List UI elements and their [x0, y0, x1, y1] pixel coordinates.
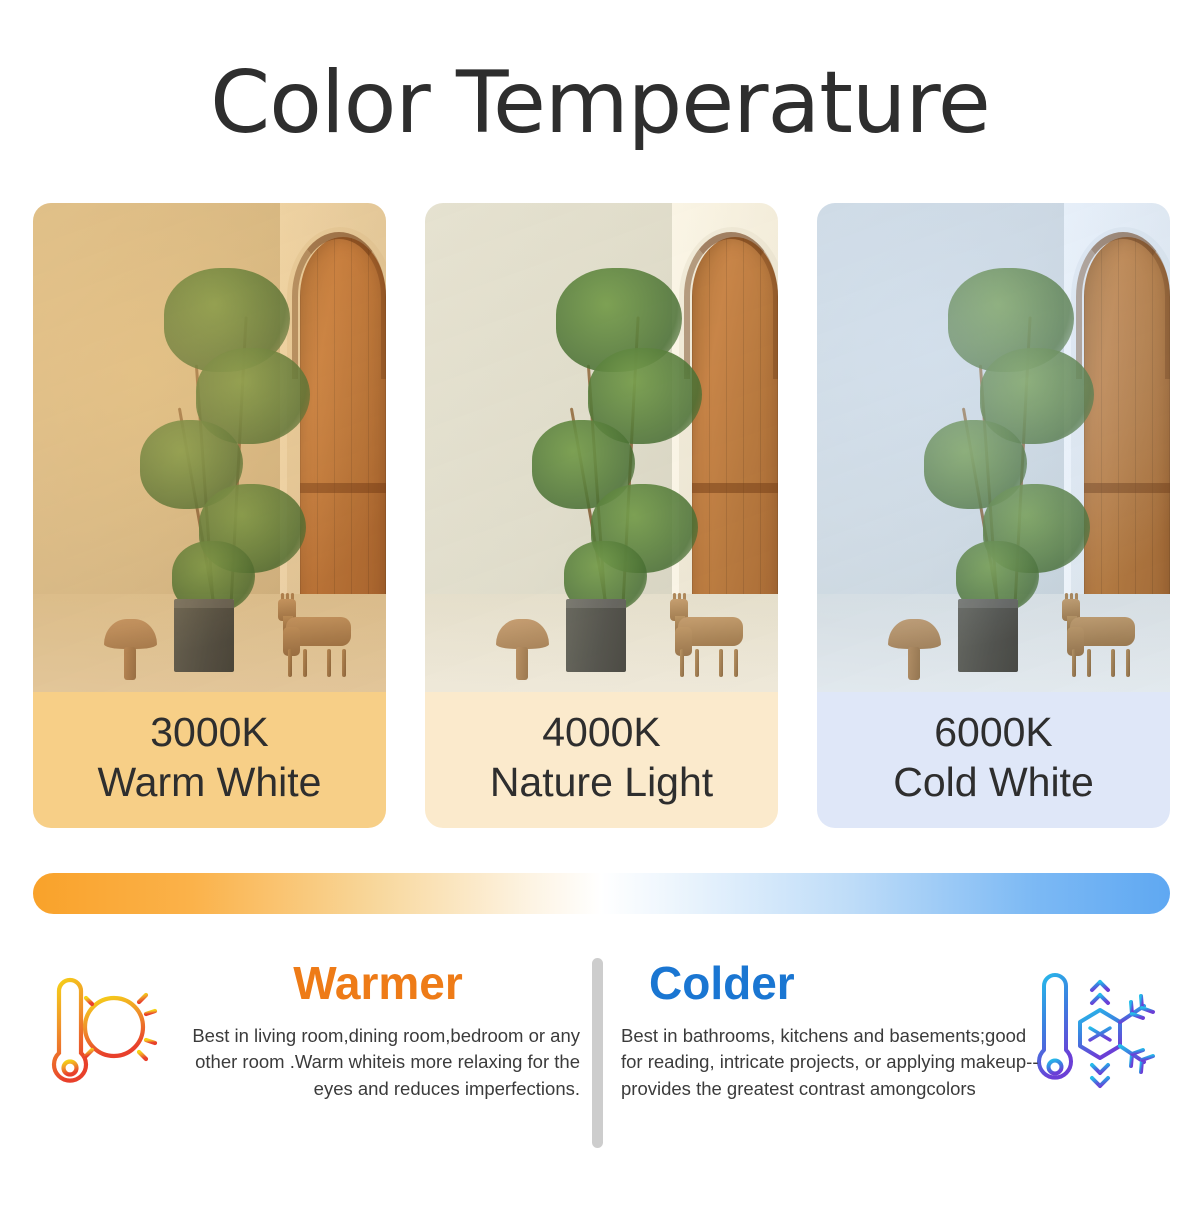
color-temperature-card-3000k[interactable]: 3000K Warm White: [33, 203, 386, 828]
potted-tree: [520, 252, 718, 653]
animal-leg: [303, 649, 307, 677]
card-label-4000k: 4000K Nature Light: [425, 692, 778, 828]
animal-leg: [1111, 649, 1115, 677]
room-scene: [817, 203, 1170, 692]
mushroom-stem: [908, 647, 921, 680]
animal-leg: [327, 649, 331, 677]
mushroom-cap: [888, 619, 941, 650]
potted-tree: [912, 252, 1110, 653]
mushroom-stem: [516, 647, 529, 680]
thermometer-snowflake-icon: [1032, 962, 1164, 1102]
warmer-column: Warmer Best in living room,dining room,b…: [176, 958, 580, 1102]
cold-white-room-photo: [817, 203, 1170, 692]
animal-leg: [719, 649, 723, 677]
wooden-animal-bench: [266, 594, 351, 677]
wooden-animal-bench: [658, 594, 743, 677]
mushroom-stool: [104, 619, 157, 678]
kelvin-value: 4000K: [542, 707, 661, 757]
wooden-animal-bench: [1050, 594, 1135, 677]
card-label-3000k: 3000K Warm White: [33, 692, 386, 828]
animal-leg: [1072, 649, 1076, 677]
nature-light-room-photo: [425, 203, 778, 692]
animal-leg: [288, 649, 292, 677]
warm-white-room-photo: [33, 203, 386, 692]
kelvin-name: Nature Light: [490, 757, 713, 807]
color-temperature-card-4000k[interactable]: 4000K Nature Light: [425, 203, 778, 828]
mushroom-cap: [496, 619, 549, 650]
concrete-planter: [958, 599, 1018, 672]
mushroom-cap: [104, 619, 157, 650]
card-label-6000k: 6000K Cold White: [817, 692, 1170, 828]
colder-column: Colder Best in bathrooms, kitchens and b…: [621, 958, 1041, 1102]
animal-leg: [695, 649, 699, 677]
kelvin-value: 6000K: [934, 707, 1053, 757]
page-title: Color Temperature: [0, 58, 1200, 148]
mushroom-stool: [888, 619, 941, 678]
animal-leg: [680, 649, 684, 677]
potted-tree: [128, 252, 326, 653]
concrete-planter: [566, 599, 626, 672]
colder-description: Best in bathrooms, kitchens and basement…: [621, 1023, 1041, 1103]
room-scene: [33, 203, 386, 692]
warm-to-cold-gradient-bar: [33, 873, 1170, 914]
mushroom-stool: [496, 619, 549, 678]
concrete-planter: [174, 599, 234, 672]
colder-heading: Colder: [621, 958, 1041, 1009]
color-temperature-card-row: 3000K Warm White: [33, 203, 1170, 828]
kelvin-name: Warm White: [98, 757, 322, 807]
warmer-description: Best in living room,dining room,bedroom …: [176, 1023, 580, 1103]
infographic-page: Color Temperature: [0, 0, 1200, 1224]
room-scene: [425, 203, 778, 692]
animal-leg: [734, 649, 738, 677]
warmer-heading: Warmer: [176, 958, 580, 1009]
kelvin-value: 3000K: [150, 707, 269, 757]
animal-leg: [1087, 649, 1091, 677]
thermometer-sun-icon: [42, 965, 172, 1100]
animal-leg: [1126, 649, 1130, 677]
animal-leg: [342, 649, 346, 677]
color-temperature-card-6000k[interactable]: 6000K Cold White: [817, 203, 1170, 828]
kelvin-name: Cold White: [893, 757, 1094, 807]
mushroom-stem: [124, 647, 137, 680]
column-divider: [592, 958, 603, 1148]
